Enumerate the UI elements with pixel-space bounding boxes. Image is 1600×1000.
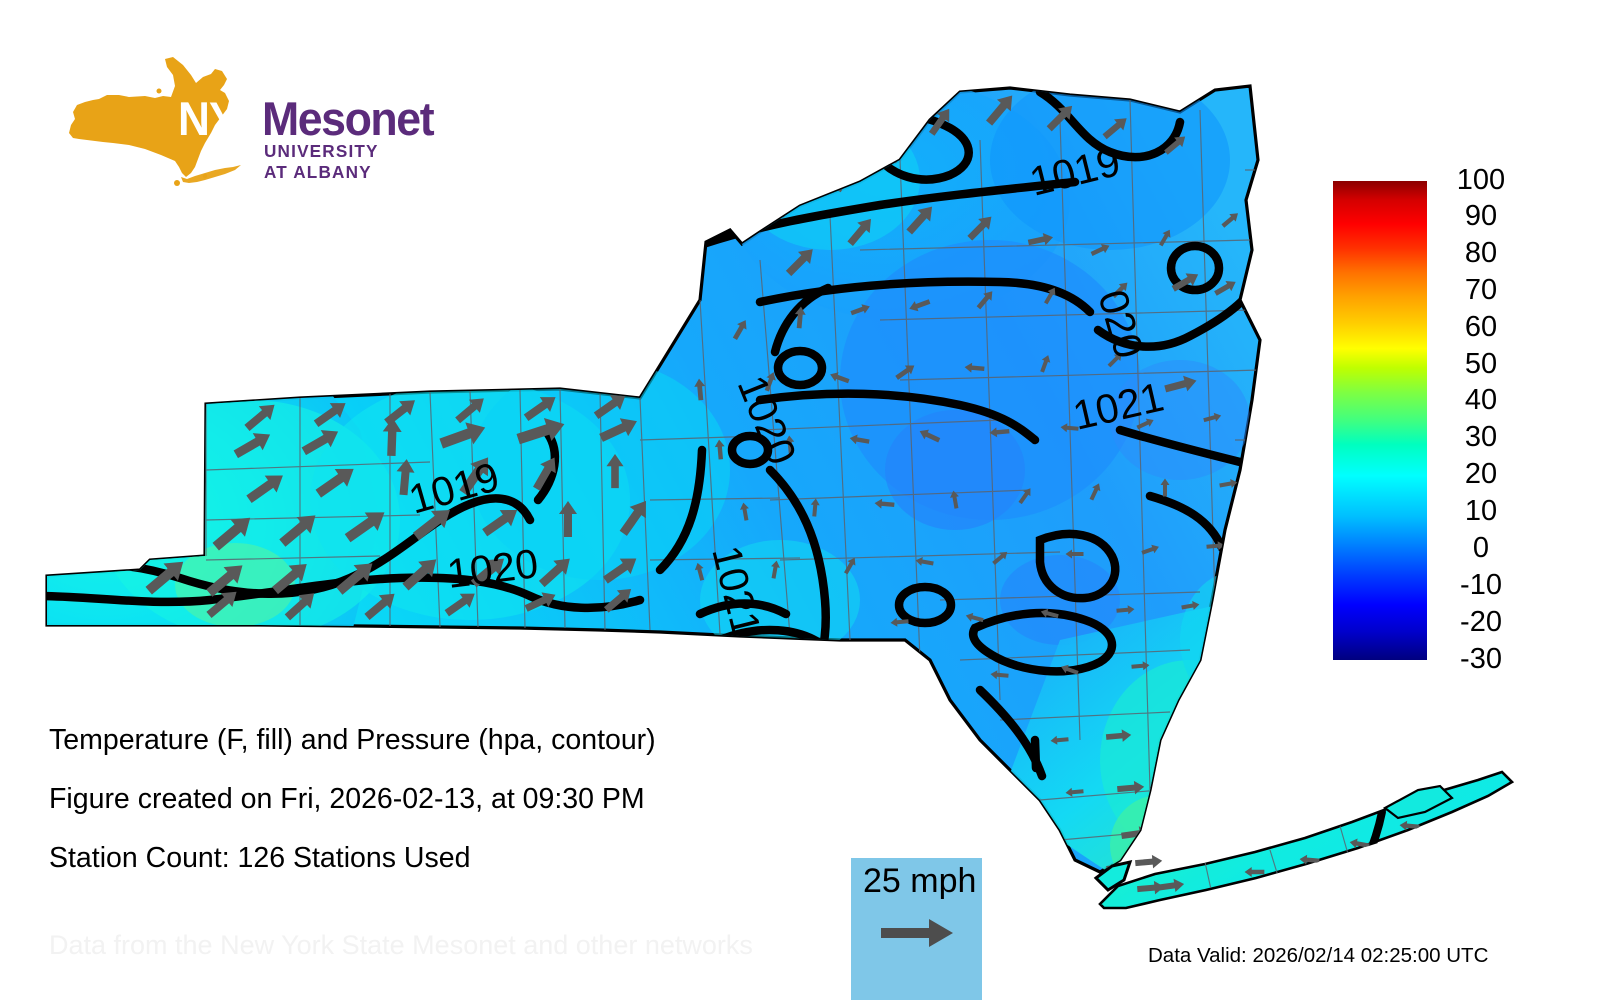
colorbar-tick-neg10: -10 [1436,571,1526,600]
colorbar-tick-10: 10 [1436,497,1526,526]
colorbar-tick-60: 60 [1436,313,1526,342]
colorbar-tick-neg20: -20 [1436,608,1526,637]
colorbar-tick-labels: 100 90 80 70 60 50 40 30 20 10 0 -10 -20… [1436,160,1546,680]
temperature-colorbar [1333,181,1427,660]
colorbar-tick-80: 80 [1436,239,1526,268]
figure-created-timestamp: Figure created on Fri, 2026-02-13, at 09… [49,783,645,816]
colorbar-tick-70: 70 [1436,276,1526,305]
figure-footer-text: Data from the New York State Mesonet and… [49,930,753,961]
colorbar-tick-30: 30 [1436,423,1526,452]
station-count-text: Station Count: 126 Stations Used [49,842,470,875]
wind-legend-label: 25 mph [863,862,976,901]
data-valid-timestamp: Data Valid: 2026/02/14 02:25:00 UTC [1148,944,1488,968]
wind-arrow-icon [879,916,957,950]
colorbar-tick-40: 40 [1436,386,1526,415]
wind-speed-legend: 25 mph [851,858,982,1000]
colorbar-tick-100: 100 [1436,166,1526,195]
colorbar-tick-neg30: -30 [1436,645,1526,674]
colorbar-tick-0: 0 [1436,534,1526,563]
temperature-fill-layer [40,70,1300,900]
colorbar-tick-20: 20 [1436,460,1526,489]
figure-title: Temperature (F, fill) and Pressure (hpa,… [49,724,656,757]
figure-canvas: NYS Mesonet UNIVERSITY AT ALBANY [0,0,1600,1000]
colorbar-tick-50: 50 [1436,350,1526,379]
colorbar-tick-90: 90 [1436,202,1526,231]
